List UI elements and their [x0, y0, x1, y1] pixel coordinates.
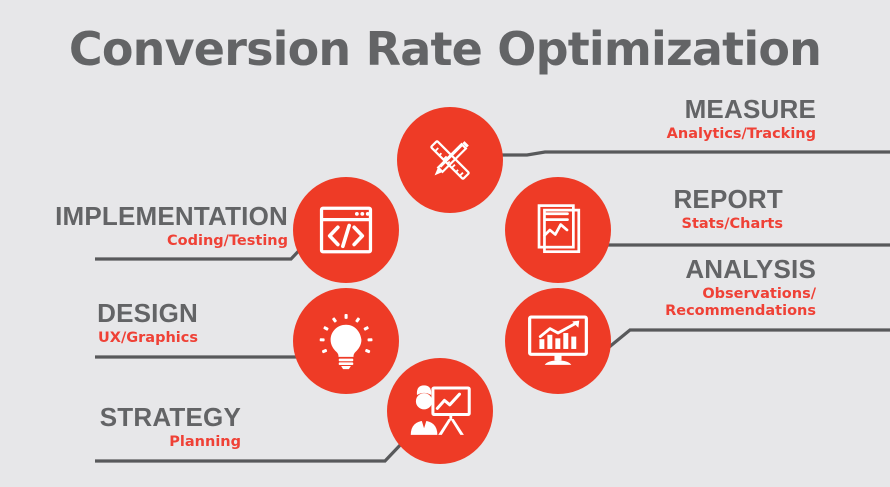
node-implementation[interactable]	[293, 177, 399, 283]
label-implementation-heading: IMPLEMENTATION	[38, 203, 288, 230]
pencil-ruler-icon	[421, 131, 479, 189]
connector-analysis	[608, 330, 890, 348]
label-implementation: IMPLEMENTATION Coding/Testing	[38, 203, 288, 250]
label-analysis: ANALYSIS Observations/ Recommendations	[568, 256, 816, 321]
label-design-subtitle: UX/Graphics	[38, 330, 198, 347]
code-window-icon	[317, 203, 375, 257]
label-report-subtitle: Stats/Charts	[568, 216, 783, 233]
label-report: REPORT Stats/Charts	[568, 186, 783, 233]
infographic-canvas: Conversion Rate Optimization	[0, 0, 890, 487]
label-measure-subtitle: Analytics/Tracking	[568, 126, 816, 143]
label-analysis-heading: ANALYSIS	[568, 256, 816, 283]
label-design-heading: DESIGN	[38, 300, 198, 327]
label-strategy-subtitle: Planning	[38, 434, 241, 451]
connector-measure	[493, 152, 890, 155]
presentation-icon	[409, 383, 471, 439]
label-analysis-subtitle-line2: Recommendations	[568, 303, 816, 320]
label-implementation-subtitle: Coding/Testing	[38, 233, 288, 250]
node-measure[interactable]	[397, 107, 503, 213]
monitor-chart-icon	[527, 314, 589, 368]
node-strategy[interactable]	[387, 358, 493, 464]
node-design[interactable]	[293, 288, 399, 394]
label-analysis-subtitle-line1: Observations/	[568, 286, 816, 303]
label-measure: MEASURE Analytics/Tracking	[568, 96, 816, 143]
label-strategy: STRATEGY Planning	[38, 404, 241, 451]
label-report-heading: REPORT	[568, 186, 783, 213]
label-strategy-heading: STRATEGY	[38, 404, 241, 431]
label-design: DESIGN UX/Graphics	[38, 300, 198, 347]
lightbulb-icon	[317, 312, 375, 370]
label-measure-heading: MEASURE	[568, 96, 816, 123]
